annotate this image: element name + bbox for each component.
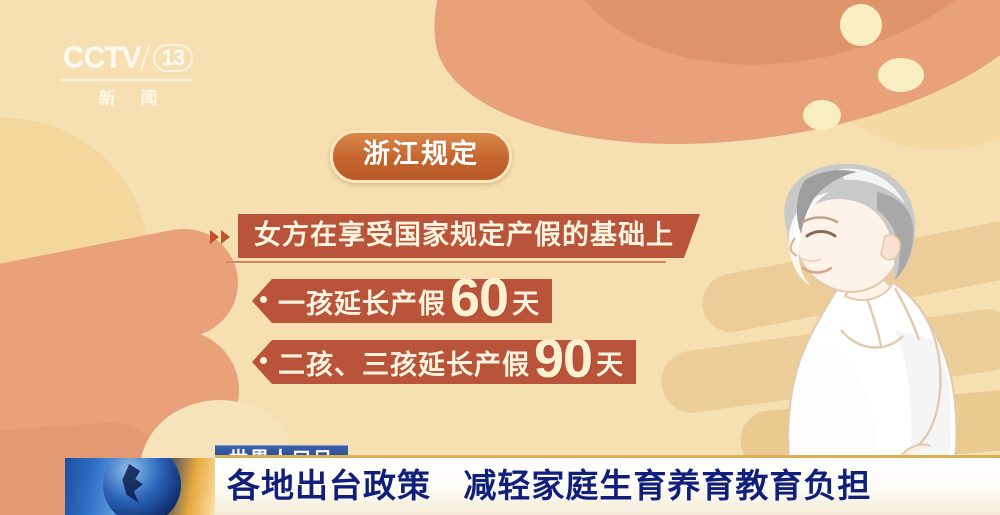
arrow-marker-icon: [252, 279, 272, 323]
bg-dot-1: [840, 4, 882, 46]
policy-row-first-child: 一孩延长产假 60 天: [252, 279, 552, 323]
policy-row-label: 一孩延长产假: [278, 282, 446, 321]
province-title-pill: 浙江规定: [330, 130, 512, 183]
bg-dot-3: [803, 100, 841, 130]
intro-statement: 女方在享受国家规定产假的基础上: [210, 214, 700, 263]
cctv-logo-mark: CCTV 13: [58, 38, 198, 78]
policy-row-second-third-child: 二孩、三孩延长产假 90 天: [252, 340, 636, 384]
news-headline-row: 各地出台政策 减轻家庭生育养育教育负担: [215, 455, 1000, 515]
policy-row-body: 一孩延长产假 60 天: [272, 279, 552, 323]
broadcast-screen: CCTV 13 新 闻 浙江规定 女方在享受国家规定产假的基础上 一孩延长产假 …: [0, 0, 1000, 515]
cctv-logo-underline: [60, 79, 192, 81]
policy-row-label: 二孩、三孩延长产假: [278, 343, 530, 382]
policy-row-value: 60: [450, 278, 508, 318]
bg-dot-2: [878, 58, 924, 92]
policy-row-unit: 天: [596, 343, 624, 382]
arrow-marker-icon: [252, 340, 272, 384]
double-chevron-icon: [210, 230, 238, 246]
intro-statement-text: 女方在享受国家规定产假的基础上: [238, 214, 700, 258]
pregnant-woman-illustration: [745, 160, 1000, 460]
policy-row-unit: 天: [512, 282, 540, 321]
globe-icon: [65, 458, 225, 515]
news-headline-part1: 各地出台政策: [227, 467, 431, 504]
cctv-logo-text: CCTV: [63, 41, 141, 75]
cctv-channel-number: 13: [153, 44, 193, 72]
cctv-logo-sublabel: 新 闻: [58, 84, 198, 109]
cctv-logo: CCTV 13 新 闻: [58, 38, 198, 104]
news-lower-third: 世界人口日 各地出台政策 减轻家庭生育养育教育负担: [0, 440, 1000, 515]
news-headline: 各地出台政策 减轻家庭生育养育教育负担: [215, 468, 871, 504]
news-headline-part2: 减轻家庭生育养育教育负担: [463, 467, 871, 504]
intro-statement-underline: [226, 261, 666, 263]
policy-row-body: 二孩、三孩延长产假 90 天: [272, 340, 636, 384]
policy-row-value: 90: [534, 339, 592, 379]
